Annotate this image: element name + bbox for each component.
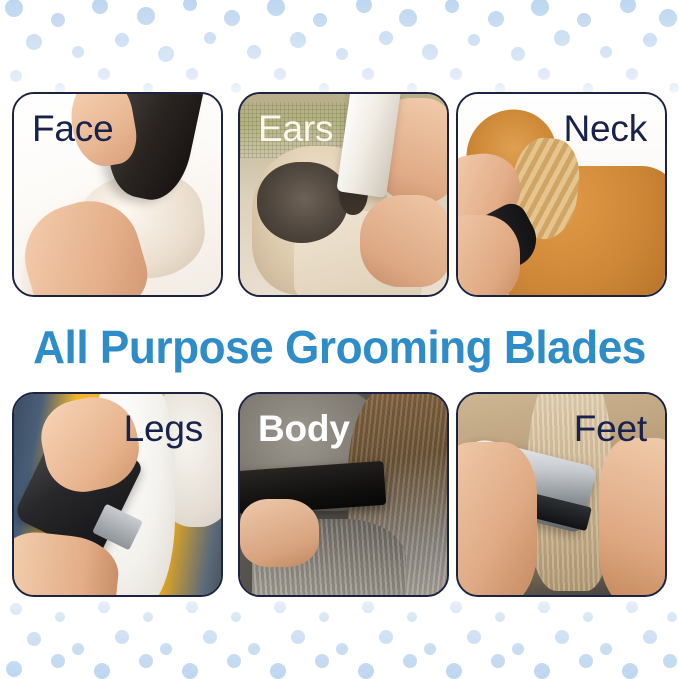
- page-headline: All Purpose Grooming Blades: [14, 311, 666, 383]
- panel-label-legs: Legs: [124, 410, 203, 447]
- panel-feet[interactable]: Feet: [456, 392, 667, 597]
- panel-label-body: Body: [258, 410, 350, 447]
- panel-label-ears: Ears: [258, 110, 333, 147]
- groomer-hand-lower-shape: [360, 195, 449, 287]
- panel-label-face: Face: [32, 110, 113, 147]
- pug-face-shape: [257, 162, 348, 242]
- panel-neck[interactable]: Neck: [456, 92, 667, 297]
- panel-body[interactable]: Body: [238, 392, 449, 597]
- panel-ears[interactable]: Ears: [238, 92, 449, 297]
- infographic-canvas: Face Ears Ne: [0, 0, 679, 679]
- groomer-hand-lower-shape: [240, 499, 319, 567]
- panel-label-neck: Neck: [564, 110, 648, 147]
- panel-face[interactable]: Face: [12, 92, 223, 297]
- groomer-hand-lower-shape: [456, 215, 520, 297]
- panel-legs[interactable]: Legs: [12, 392, 223, 597]
- groomer-hand-left-shape: [456, 442, 537, 597]
- groomer-hand-right-shape: [599, 438, 667, 597]
- panel-label-feet: Feet: [574, 410, 647, 447]
